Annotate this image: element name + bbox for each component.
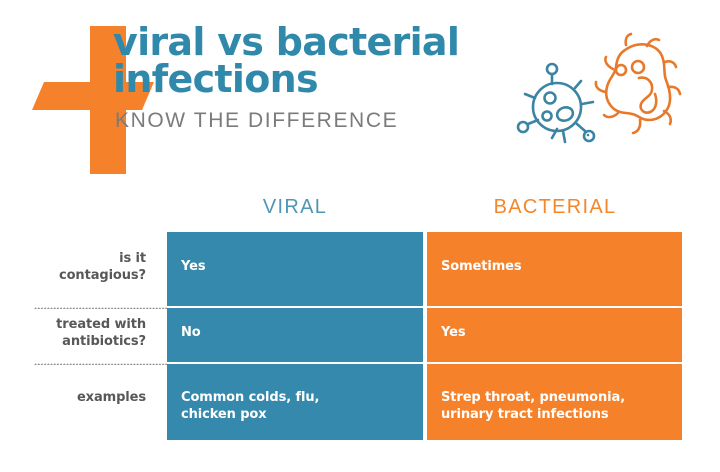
cell-bacterial-antibiotics: Yes: [427, 308, 682, 362]
row-label-line: examples: [0, 390, 146, 407]
row-divider-white: [167, 306, 682, 308]
column-header-bacterial: BACTERIAL: [427, 196, 683, 219]
cell-viral-contagious: Yes: [167, 232, 423, 306]
title-block: viral vs bacterial infections KNOW THE D…: [113, 24, 513, 133]
row-label-contagious: is it contagious?: [0, 251, 146, 284]
row-label-line: treated with: [0, 317, 146, 334]
row-label-line: contagious?: [0, 268, 146, 285]
cell-text-line: Common colds, flu,: [181, 389, 423, 406]
column-header-viral: VIRAL: [167, 196, 423, 219]
cell-text-line: Yes: [181, 258, 423, 275]
row-label-examples: examples: [0, 390, 146, 407]
table-row: treated with antibiotics? No Yes: [0, 308, 720, 362]
cell-text-line: Sometimes: [441, 258, 682, 275]
comparison-table: is it contagious? Yes Sometimes treated …: [0, 232, 720, 440]
header: viral vs bacterial infections KNOW THE D…: [0, 0, 720, 190]
page-subtitle: KNOW THE DIFFERENCE: [115, 109, 513, 133]
row-divider-dotted: [34, 307, 167, 309]
cell-text-line: chicken pox: [181, 406, 423, 423]
page-title-line-1: viral vs bacterial: [113, 24, 513, 61]
bacteria-icon: [596, 34, 680, 133]
table-column-headers: VIRAL BACTERIAL: [0, 196, 720, 228]
cell-bacterial-contagious: Sometimes: [427, 232, 682, 306]
row-divider-dotted: [34, 363, 167, 365]
table-row: is it contagious? Yes Sometimes: [0, 232, 720, 306]
row-divider-white: [167, 362, 682, 364]
virus-icon: [518, 64, 594, 142]
cell-viral-antibiotics: No: [167, 308, 423, 362]
row-label-line: antibiotics?: [0, 334, 146, 351]
cell-viral-examples: Common colds, flu, chicken pox: [167, 364, 423, 440]
row-label-line: is it: [0, 251, 146, 268]
cell-text-line: No: [181, 324, 423, 341]
row-label-antibiotics: treated with antibiotics?: [0, 317, 146, 350]
cell-text-line: urinary tract infections: [441, 406, 682, 423]
page-title-line-2: infections: [113, 61, 513, 98]
cell-bacterial-examples: Strep throat, pneumonia, urinary tract i…: [427, 364, 682, 440]
cell-text-line: Yes: [441, 324, 682, 341]
table-row: examples Common colds, flu, chicken pox …: [0, 364, 720, 440]
germ-icons-group: [505, 32, 695, 162]
cell-text-line: Strep throat, pneumonia,: [441, 389, 682, 406]
